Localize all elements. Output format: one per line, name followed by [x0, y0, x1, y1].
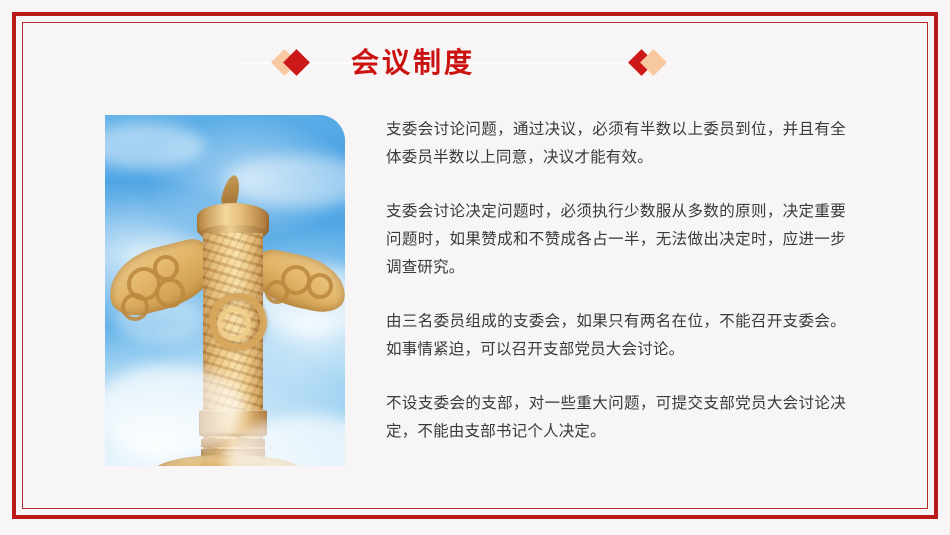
scroll-carving — [121, 293, 149, 321]
double-diamond-icon-right — [631, 48, 677, 78]
scroll-carving — [155, 278, 185, 308]
huabiao-photo — [105, 115, 345, 466]
content-text-block: 支委会讨论问题，通过决议，必须有半数以上委员到位，并且有全体委员半数以上同意，决… — [386, 116, 846, 446]
scroll-carving — [265, 280, 289, 304]
scroll-carving — [307, 273, 333, 299]
slide-root: 会议制度 — [0, 0, 950, 535]
scroll-carving — [153, 255, 179, 281]
double-diamond-icon-left — [273, 48, 319, 78]
content-paragraph: 不设支委会的支部，对一些重大问题，可提交支部党员大会讨论决定，不能由支部书记个人… — [386, 390, 846, 446]
content-paragraph: 由三名委员组成的支委会，如果只有两名在位，不能召开支委会。如事情紧迫，可以召开支… — [386, 308, 846, 364]
slide-header: 会议制度 — [0, 38, 950, 88]
content-paragraph: 支委会讨论决定问题时，必须执行少数服从多数的原则，决定重要问题时，如果赞成和不赞… — [386, 198, 846, 282]
content-paragraph: 支委会讨论问题，通过决议，必须有半数以上委员到位，并且有全体委员半数以上同意，决… — [386, 116, 846, 172]
page-title: 会议制度 — [351, 49, 475, 77]
